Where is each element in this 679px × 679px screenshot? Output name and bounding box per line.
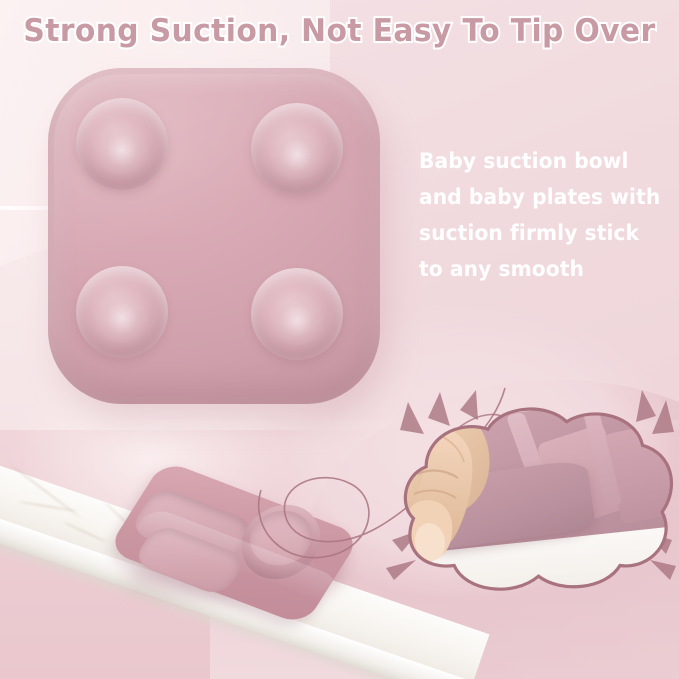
- cloud-callout-bubble: [398, 398, 679, 613]
- body-copy-line-1: Baby suction bowl: [419, 144, 663, 180]
- body-copy-line-3: suction firmly stick: [419, 216, 663, 252]
- body-copy-line-2: and baby plates with: [419, 180, 663, 216]
- suction-mat-body: [48, 68, 380, 404]
- suction-cup-top-left: [76, 98, 168, 190]
- product-banner: Strong Suction, Not Easy To Tip Over Bab…: [0, 0, 679, 679]
- suction-cup-top-right: [251, 103, 343, 195]
- suction-cup-bottom-right: [251, 268, 343, 360]
- marble-vein: [63, 521, 107, 543]
- cloud-outline: [398, 398, 679, 613]
- page-title: Strong Suction, Not Easy To Tip Over: [14, 13, 666, 49]
- suction-cup-bottom-left: [76, 266, 168, 358]
- body-copy: Baby suction bowl and baby plates with s…: [419, 144, 663, 288]
- suction-mat-product: [48, 68, 388, 418]
- body-copy-line-4: to any smooth: [419, 252, 663, 288]
